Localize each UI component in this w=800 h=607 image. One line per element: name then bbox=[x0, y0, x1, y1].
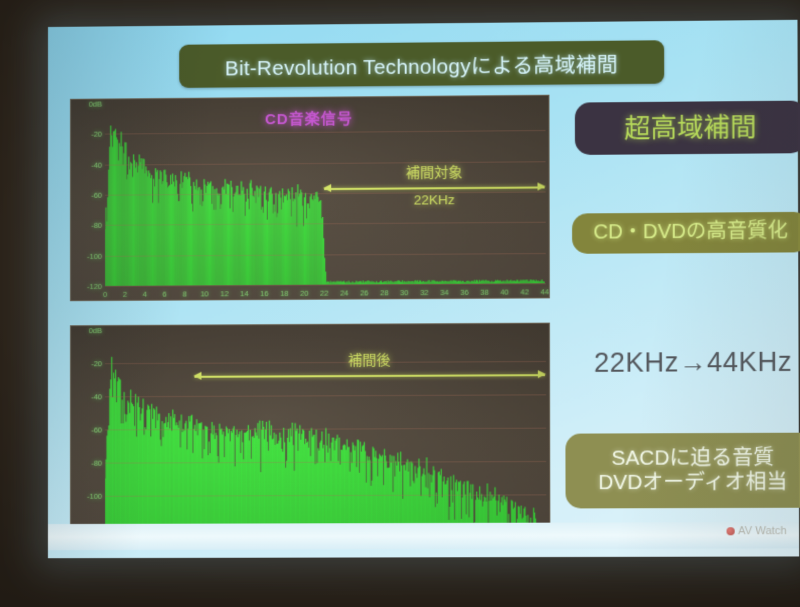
projector-room-background: Bit-Revolution Technologyによる高域補間 0dB-20-… bbox=[0, 0, 800, 607]
watermark-label: AV Watch bbox=[738, 525, 787, 537]
x-axis-tick-label: 30 bbox=[400, 288, 408, 297]
quality-pill-line2: DVDオーディオ相当 bbox=[598, 470, 787, 495]
y-axis-tick-label: -120 bbox=[87, 281, 102, 290]
x-axis-tick-label: 34 bbox=[440, 288, 448, 297]
x-axis-tick-label: 38 bbox=[480, 288, 488, 297]
y-axis-tick-label: -40 bbox=[91, 160, 102, 169]
annotation-label-above-bottom: 補間後 bbox=[195, 349, 545, 371]
annotation-arrow-left-bottom bbox=[194, 372, 202, 380]
x-axis-tick-label: 10 bbox=[200, 289, 208, 298]
x-axis-tick-label: 44 bbox=[541, 287, 549, 296]
chart-before-interpolation: 0dB-20-40-60-80-100-120 0246810121416182… bbox=[70, 95, 550, 301]
x-axis-tick-label: 6 bbox=[163, 290, 167, 299]
x-axis-tick-label: 18 bbox=[280, 289, 288, 298]
x-axis-tick-label: 40 bbox=[500, 288, 508, 297]
x-axis-tick-label: 12 bbox=[220, 289, 228, 298]
headline-pill-super-high-band: 超高域補間 bbox=[575, 101, 800, 155]
benefit-pill-cd-dvd-quality: CD・DVDの高音質化 bbox=[572, 212, 800, 254]
y-axis-tick-label: -20 bbox=[91, 129, 102, 138]
slide-title-pill: Bit-Revolution Technologyによる高域補間 bbox=[179, 40, 664, 88]
annotation-arrow-line-bottom bbox=[195, 374, 545, 378]
headline-pill-label: 超高域補間 bbox=[624, 112, 756, 144]
frequency-conversion-text: 22KHz→44KHz bbox=[568, 341, 800, 383]
chart-title-top: CD音楽信号 bbox=[71, 106, 549, 131]
y-axis-tick-label: -100 bbox=[87, 491, 102, 500]
x-axis-tick-label: 0 bbox=[103, 290, 107, 299]
y-axis-tick-label: -80 bbox=[91, 221, 102, 230]
x-axis-tick-label: 42 bbox=[520, 287, 528, 296]
slide-title-text: Bit-Revolution Technologyによる高域補間 bbox=[225, 47, 618, 81]
y-axis-tick-label: -60 bbox=[91, 190, 102, 199]
annotation-after-interpolation: 補間後 bbox=[195, 365, 545, 385]
annotation-arrow-right-bottom bbox=[538, 370, 546, 378]
x-axis-tick-label: 22 bbox=[320, 289, 328, 298]
y-axis-tick-label: -60 bbox=[91, 425, 102, 434]
y-axis-tick-label: 0dB bbox=[89, 99, 102, 108]
y-axis-tick-label: -20 bbox=[91, 359, 102, 368]
y-axis-tick-label: -80 bbox=[91, 458, 102, 467]
y-axis-tick-label: 0dB bbox=[89, 326, 102, 335]
quality-pill-sacd: SACDに迫る音質 DVDオーディオ相当 bbox=[565, 433, 800, 509]
x-axis-tick-label: 2 bbox=[123, 290, 127, 299]
x-axis-tick-label: 36 bbox=[460, 288, 468, 297]
x-axis-tick-label: 4 bbox=[143, 290, 147, 299]
slide-footer-strip: AV Watch bbox=[48, 522, 799, 550]
annotation-arrow-left-top bbox=[323, 184, 331, 192]
x-axis-tick-label: 26 bbox=[360, 288, 368, 297]
x-axis-tick-label: 32 bbox=[420, 288, 428, 297]
y-axis-tick-label: -40 bbox=[91, 392, 102, 401]
watermark: AV Watch bbox=[727, 525, 787, 537]
x-axis-tick-label: 16 bbox=[260, 289, 268, 298]
watermark-dot-icon bbox=[727, 527, 735, 535]
x-axis-tick-label: 14 bbox=[240, 289, 248, 298]
quality-pill-line1: SACDに迫る音質 bbox=[611, 446, 774, 471]
presentation-slide: Bit-Revolution Technologyによる高域補間 0dB-20-… bbox=[48, 20, 799, 558]
x-axis-tick-label: 28 bbox=[380, 288, 388, 297]
frequency-conversion-label: 22KHz→44KHz bbox=[594, 346, 792, 378]
annotation-arrow-right-top bbox=[537, 183, 545, 191]
annotation-arrow-line-top bbox=[324, 187, 544, 191]
x-axis-tick-label: 8 bbox=[183, 289, 187, 298]
benefit-pill-label: CD・DVDの高音質化 bbox=[593, 220, 788, 245]
chart-after-interpolation: 0dB-20-40-60-80-100-120 0246810121416182… bbox=[70, 323, 550, 544]
x-axis-tick-label: 24 bbox=[340, 288, 348, 297]
x-axis-tick-label: 20 bbox=[300, 289, 308, 298]
y-axis-tick-label: -100 bbox=[87, 251, 102, 260]
annotation-label-above-top: 補間対象 bbox=[324, 162, 544, 184]
annotation-interpolation-target: 補間対象 22KHz bbox=[324, 178, 544, 198]
annotation-label-below-top: 22KHz bbox=[324, 192, 544, 209]
y-axis-bottom: 0dB-20-40-60-80-100-120 bbox=[71, 326, 105, 543]
